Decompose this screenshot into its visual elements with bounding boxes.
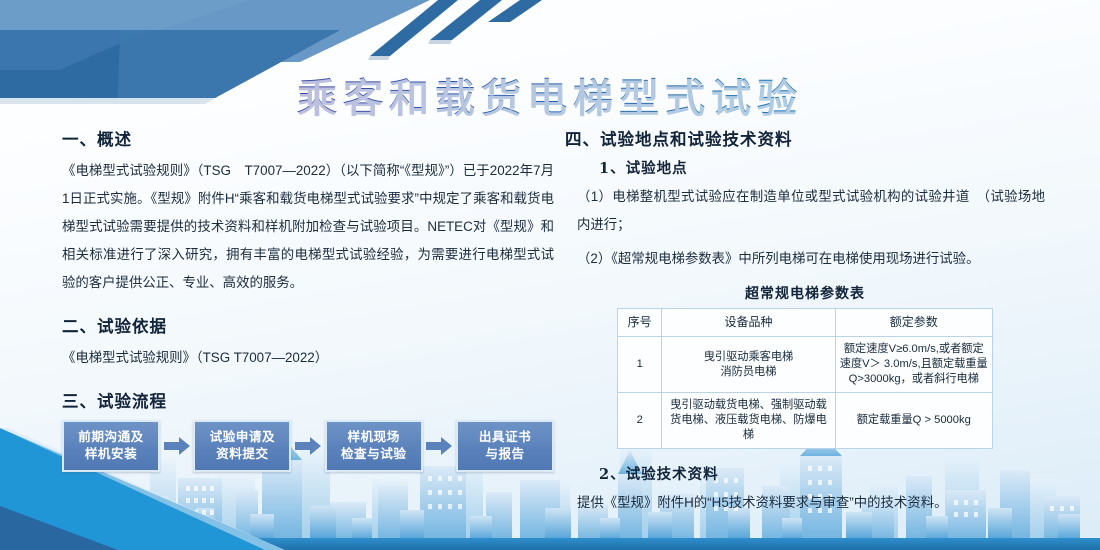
- subsection-heading-technical-docs: 2、试验技术资料: [599, 463, 1045, 484]
- row-2-no: 2: [618, 393, 662, 449]
- section-heading-location-docs: 四、试验地点和试验技术资料: [565, 126, 1045, 150]
- row-2-param: 额定载重量Q > 5000kg: [835, 393, 992, 449]
- right-column: 四、试验地点和试验技术资料 1、试验地点 （1）电梯整机型式试验应在制造单位或型…: [565, 126, 1045, 523]
- arrow-right-icon: [164, 437, 190, 455]
- table-header-no: 序号: [618, 309, 662, 337]
- flow-step-3[interactable]: 样机现场 检查与试验: [325, 420, 423, 472]
- flow-arrow-2: [291, 437, 324, 455]
- flow-step-1-line1: 前期沟通及: [78, 429, 143, 446]
- subsection-heading-test-location: 1、试验地点: [599, 157, 1045, 178]
- row-2-kind: 曳引驱动载货电梯、强制驱动载货电梯、液压载货电梯、防爆电梯: [662, 393, 835, 449]
- location-item-2: （2）《超常规电梯参数表》中所列电梯可在电梯使用现场进行试验。: [577, 245, 1045, 273]
- table-row: 2 曳引驱动载货电梯、强制驱动载货电梯、液压载货电梯、防爆电梯 额定载重量Q >…: [618, 393, 993, 449]
- spacer: [62, 303, 554, 313]
- section-heading-overview: 一、概述: [62, 126, 554, 150]
- row-1-kind: 曳引驱动乘客电梯消防员电梯: [662, 337, 835, 393]
- section-heading-process: 三、试验流程: [62, 388, 554, 412]
- page-title: 乘客和载货电梯型式试验: [0, 66, 1100, 124]
- flow-step-3-line2: 检查与试验: [341, 446, 406, 463]
- spacer: [62, 374, 554, 388]
- overview-paragraph: 《电梯型式试验规则》（TSG T7007—2022）（以下简称“《型规》”）已于…: [62, 157, 554, 297]
- table-header-kind: 设备品种: [662, 309, 835, 337]
- section-heading-basis: 二、试验依据: [62, 313, 554, 337]
- arrow-right-icon: [426, 437, 452, 455]
- table-header-row: 序号 设备品种 额定参数: [618, 309, 993, 337]
- flow-arrow-3: [423, 437, 456, 455]
- flow-step-4-line1: 出具证书: [479, 429, 531, 446]
- basis-paragraph: 《电梯型式试验规则》（TSG T7007—2022）: [62, 344, 554, 372]
- flow-step-3-line1: 样机现场: [347, 429, 399, 446]
- flow-step-1[interactable]: 前期沟通及 样机安装: [62, 420, 160, 472]
- row-1-param: 额定速度V≥6.0m/s,或者额定速度V＞ 3.0m/s,且额定载重量Q>300…: [835, 337, 992, 393]
- flow-step-4-line2: 与报告: [485, 446, 524, 463]
- left-column: 一、概述 《电梯型式试验规则》（TSG T7007—2022）（以下简称“《型规…: [62, 126, 554, 472]
- flow-step-2[interactable]: 试验申请及 资料提交: [193, 420, 291, 472]
- row-1-no: 1: [618, 337, 662, 393]
- location-item-1: （1）电梯整机型式试验应在制造单位或型式试验机构的试验井道 （试验场地内进行；: [577, 183, 1045, 239]
- table-header-param: 额定参数: [835, 309, 992, 337]
- process-flow: 前期沟通及 样机安装 试验申请及 资料提交 样机现场 检查与试验: [62, 420, 554, 472]
- poster-canvas: 乘客和载货电梯型式试验 一、概述 《电梯型式试验规则》（TSG T7007—20…: [0, 0, 1100, 550]
- table-title: 超常规电梯参数表: [565, 283, 1045, 303]
- diagonal-slash-decoration: [330, 0, 560, 70]
- arrow-right-icon: [295, 437, 321, 455]
- flow-step-2-line1: 试验申请及: [210, 429, 275, 446]
- flow-step-1-line2: 样机安装: [85, 446, 137, 463]
- spacer: [565, 449, 1045, 459]
- flow-arrow-1: [160, 437, 193, 455]
- table-row: 1 曳引驱动乘客电梯消防员电梯 额定速度V≥6.0m/s,或者额定速度V＞ 3.…: [618, 337, 993, 393]
- flow-step-2-line2: 资料提交: [216, 446, 268, 463]
- flow-step-4[interactable]: 出具证书 与报告: [456, 420, 554, 472]
- extraordinary-elevator-parameters-table: 序号 设备品种 额定参数 1 曳引驱动乘客电梯消防员电梯 额定速度V≥6.0m/…: [617, 308, 993, 449]
- technical-docs-paragraph: 提供《型规》附件H的“H5技术资料要求与审查”中的技术资料。: [577, 489, 1045, 517]
